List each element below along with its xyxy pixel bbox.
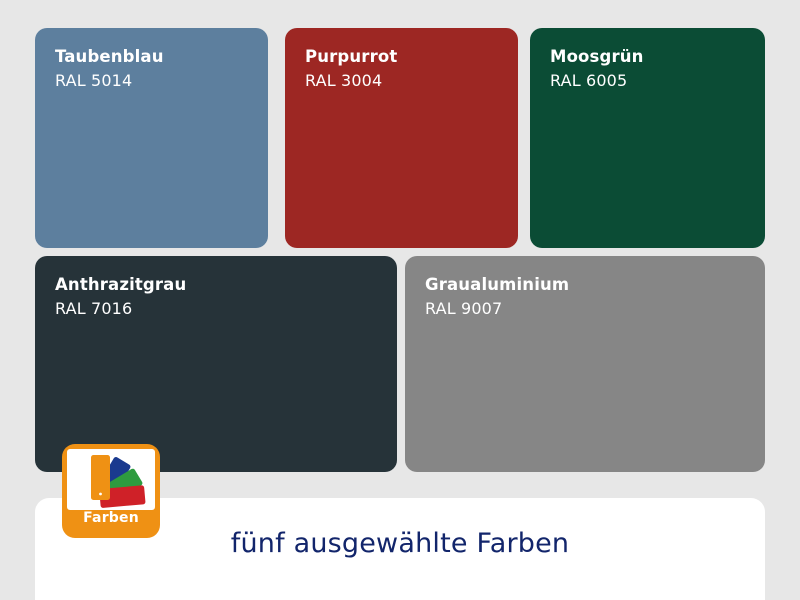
- color-swatch-anthrazitgrau[interactable]: Anthrazitgrau RAL 7016: [35, 256, 397, 472]
- swatch-label: Anthrazitgrau RAL 7016: [35, 256, 397, 319]
- swatch-ral-code: RAL 5014: [55, 70, 268, 91]
- swatch-ral-code: RAL 6005: [550, 70, 765, 91]
- color-swatch-taubenblau[interactable]: Taubenblau RAL 5014: [35, 28, 268, 248]
- color-swatch-purpurrot[interactable]: Purpurrot RAL 3004: [285, 28, 518, 248]
- swatch-label: Purpurrot RAL 3004: [285, 28, 518, 91]
- swatch-ral-code: RAL 9007: [425, 298, 765, 319]
- swatch-label: Moosgrün RAL 6005: [530, 28, 765, 91]
- swatch-color-name: Purpurrot: [305, 46, 518, 68]
- color-swatch-moosgruen[interactable]: Moosgrün RAL 6005: [530, 28, 765, 248]
- farben-badge-caption: Farben: [62, 510, 160, 526]
- swatch-label: Taubenblau RAL 5014: [35, 28, 268, 91]
- swatch-color-name: Taubenblau: [55, 46, 268, 68]
- swatch-color-name: Moosgrün: [550, 46, 765, 68]
- swatch-ral-code: RAL 7016: [55, 298, 397, 319]
- color-fan-deck-icon: [67, 449, 155, 510]
- color-swatch-graualuminium[interactable]: Graualuminium RAL 9007: [405, 256, 765, 472]
- swatch-ral-code: RAL 3004: [305, 70, 518, 91]
- color-palette-page: Taubenblau RAL 5014 Purpurrot RAL 3004 M…: [0, 0, 800, 600]
- farben-badge[interactable]: Farben: [62, 444, 160, 538]
- swatch-color-name: Anthrazitgrau: [55, 274, 397, 296]
- swatch-label: Graualuminium RAL 9007: [405, 256, 765, 319]
- swatch-color-name: Graualuminium: [425, 274, 765, 296]
